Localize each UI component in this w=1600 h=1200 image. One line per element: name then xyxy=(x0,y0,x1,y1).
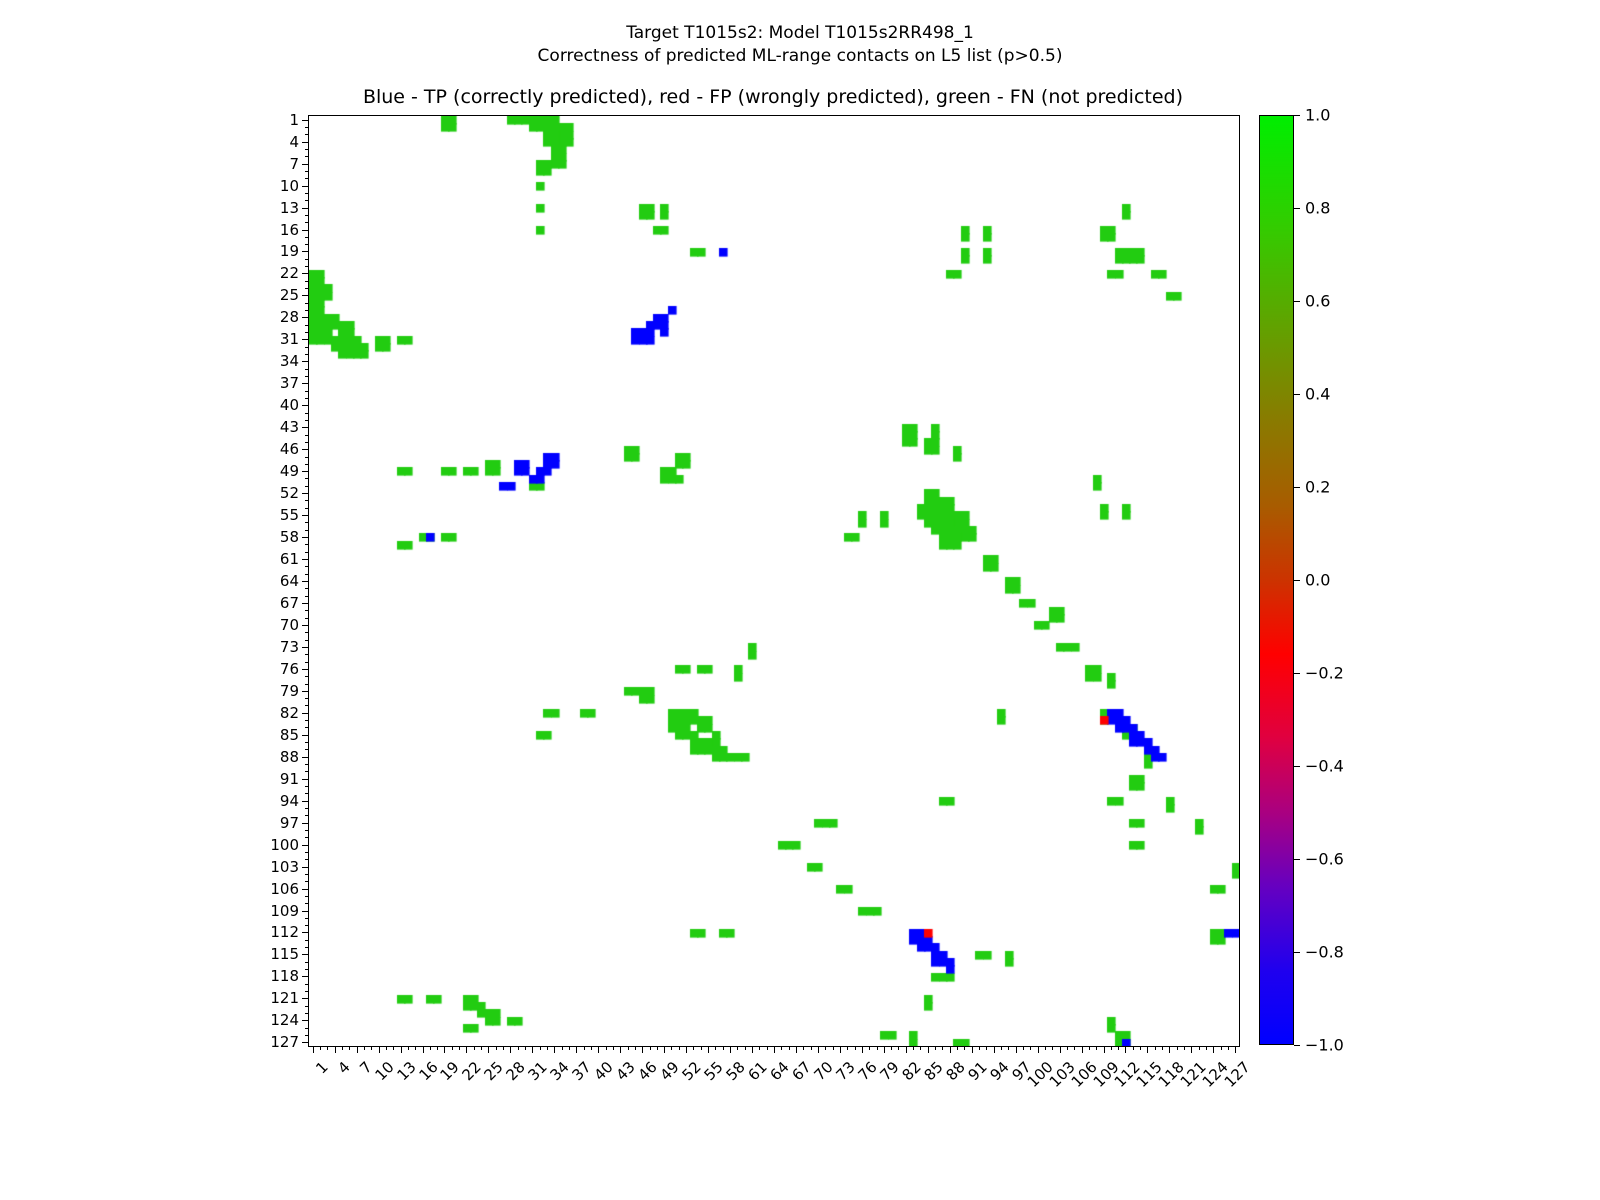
x-tick-minor xyxy=(1162,1046,1163,1050)
y-tick-minor xyxy=(305,566,309,567)
y-tick-minor xyxy=(305,742,309,743)
x-tick-major xyxy=(1235,1046,1236,1053)
y-tick-minor xyxy=(305,413,309,414)
y-tick-label: 73 xyxy=(280,638,299,656)
y-tick-minor xyxy=(305,962,309,963)
y-tick-minor xyxy=(305,325,309,326)
x-tick-minor xyxy=(891,1046,892,1050)
x-tick-minor xyxy=(833,1046,834,1050)
y-tick-label: 121 xyxy=(270,989,299,1007)
x-tick-major xyxy=(730,1046,731,1053)
y-tick-label: 97 xyxy=(280,814,299,832)
x-tick-minor xyxy=(898,1046,899,1050)
colorbar-gradient xyxy=(1259,115,1294,1045)
y-tick-major xyxy=(302,581,309,582)
x-tick-major xyxy=(379,1046,380,1053)
y-tick-major xyxy=(302,603,309,604)
x-tick-minor xyxy=(1155,1046,1156,1050)
y-tick-major xyxy=(302,273,309,274)
y-tick-label: 1 xyxy=(289,111,299,129)
y-tick-label: 76 xyxy=(280,660,299,678)
y-tick-minor xyxy=(305,574,309,575)
x-tick-minor xyxy=(1184,1046,1185,1050)
x-tick-major xyxy=(752,1046,753,1053)
x-tick-label: 7 xyxy=(356,1058,375,1077)
y-tick-minor xyxy=(305,134,309,135)
y-tick-minor xyxy=(305,522,309,523)
x-tick-minor xyxy=(803,1046,804,1050)
x-tick-minor xyxy=(715,1046,716,1050)
y-tick-major xyxy=(302,867,309,868)
x-tick-minor xyxy=(701,1046,702,1050)
colorbar-tick-label: 0.6 xyxy=(1305,292,1330,311)
y-tick-minor xyxy=(305,149,309,150)
y-tick-minor xyxy=(305,376,309,377)
x-tick-major xyxy=(1147,1046,1148,1053)
x-tick-minor xyxy=(671,1046,672,1050)
y-tick-minor xyxy=(305,588,309,589)
y-tick-minor xyxy=(305,200,309,201)
y-tick-minor xyxy=(305,771,309,772)
y-tick-minor xyxy=(305,391,309,392)
y-tick-label: 61 xyxy=(280,550,299,568)
y-tick-label: 58 xyxy=(280,528,299,546)
y-tick-label: 82 xyxy=(280,704,299,722)
x-tick-minor xyxy=(496,1046,497,1050)
y-tick-label: 70 xyxy=(280,616,299,634)
y-tick-label: 124 xyxy=(270,1011,299,1029)
colorbar: 1.00.80.60.40.20.0−0.2−0.4−0.6−0.8−1.0 xyxy=(1259,115,1294,1045)
x-tick-major xyxy=(664,1046,665,1053)
y-tick-minor xyxy=(305,127,309,128)
y-tick-major xyxy=(302,889,309,890)
y-tick-minor xyxy=(305,347,309,348)
y-tick-minor xyxy=(305,237,309,238)
y-tick-label: 94 xyxy=(280,792,299,810)
x-tick-major xyxy=(401,1046,402,1053)
y-tick-minor xyxy=(305,369,309,370)
x-tick-major xyxy=(313,1046,314,1053)
y-tick-minor xyxy=(305,222,309,223)
x-tick-major xyxy=(444,1046,445,1053)
x-tick-minor xyxy=(320,1046,321,1050)
y-tick-minor xyxy=(305,903,309,904)
x-tick-label: 1 xyxy=(312,1058,331,1077)
x-tick-minor xyxy=(1001,1046,1002,1050)
y-tick-label: 49 xyxy=(280,462,299,480)
y-tick-minor xyxy=(305,720,309,721)
x-tick-minor xyxy=(474,1046,475,1050)
y-tick-label: 37 xyxy=(280,374,299,392)
y-tick-minor xyxy=(305,171,309,172)
x-tick-major xyxy=(1038,1046,1039,1053)
x-tick-minor xyxy=(1228,1046,1229,1050)
y-tick-minor xyxy=(305,764,309,765)
x-tick-minor xyxy=(1074,1046,1075,1050)
x-tick-minor xyxy=(1206,1046,1207,1050)
y-tick-major xyxy=(302,405,309,406)
y-tick-minor xyxy=(305,662,309,663)
x-tick-minor xyxy=(650,1046,651,1050)
x-tick-minor xyxy=(1096,1046,1097,1050)
y-tick-major xyxy=(302,120,309,121)
x-tick-major xyxy=(510,1046,511,1053)
x-tick-major xyxy=(642,1046,643,1053)
y-tick-major xyxy=(302,976,309,977)
x-tick-minor xyxy=(635,1046,636,1050)
colorbar-tick-label: 0.0 xyxy=(1305,571,1330,590)
x-tick-minor xyxy=(1030,1046,1031,1050)
y-tick-minor xyxy=(305,881,309,882)
x-tick-major xyxy=(488,1046,489,1053)
y-tick-major xyxy=(302,625,309,626)
y-tick-label: 115 xyxy=(270,945,299,963)
x-tick-minor xyxy=(935,1046,936,1050)
y-tick-label: 10 xyxy=(280,177,299,195)
y-tick-major xyxy=(302,361,309,362)
x-tick-minor xyxy=(591,1046,592,1050)
x-tick-label: 4 xyxy=(334,1058,353,1077)
y-tick-label: 31 xyxy=(280,330,299,348)
x-tick-minor xyxy=(1023,1046,1024,1050)
y-tick-minor xyxy=(305,786,309,787)
x-tick-minor xyxy=(459,1046,460,1050)
colorbar-tick xyxy=(1294,952,1300,953)
x-tick-minor xyxy=(1221,1046,1222,1050)
colorbar-tick xyxy=(1294,487,1300,488)
colorbar-tick xyxy=(1294,208,1300,209)
y-tick-minor xyxy=(305,156,309,157)
y-tick-minor xyxy=(305,918,309,919)
x-tick-minor xyxy=(393,1046,394,1050)
y-tick-label: 112 xyxy=(270,923,299,941)
y-tick-minor xyxy=(305,442,309,443)
x-tick-major xyxy=(532,1046,533,1053)
y-tick-major xyxy=(302,559,309,560)
x-tick-major xyxy=(972,1046,973,1053)
x-tick-major xyxy=(1082,1046,1083,1053)
x-tick-major xyxy=(796,1046,797,1053)
y-tick-major xyxy=(302,1042,309,1043)
y-tick-minor xyxy=(305,896,309,897)
y-tick-major xyxy=(302,427,309,428)
y-tick-minor xyxy=(305,457,309,458)
x-tick-major xyxy=(818,1046,819,1053)
colorbar-tick-label: 0.4 xyxy=(1305,385,1330,404)
y-tick-label: 100 xyxy=(270,836,299,854)
y-tick-major xyxy=(302,954,309,955)
y-tick-minor xyxy=(305,676,309,677)
axes-title: Blue - TP (correctly predicted), red - F… xyxy=(308,86,1238,108)
y-tick-minor xyxy=(305,464,309,465)
y-tick-major xyxy=(302,142,309,143)
y-tick-major xyxy=(302,735,309,736)
y-tick-label: 91 xyxy=(280,770,299,788)
y-tick-minor xyxy=(305,852,309,853)
y-tick-label: 28 xyxy=(280,308,299,326)
x-tick-major xyxy=(862,1046,863,1053)
x-tick-minor xyxy=(964,1046,965,1050)
y-tick-minor xyxy=(305,984,309,985)
y-tick-label: 103 xyxy=(270,858,299,876)
y-tick-minor xyxy=(305,354,309,355)
y-tick-major xyxy=(302,383,309,384)
x-tick-major xyxy=(774,1046,775,1053)
x-tick-minor xyxy=(693,1046,694,1050)
y-tick-minor xyxy=(305,310,309,311)
y-tick-minor xyxy=(305,259,309,260)
y-tick-minor xyxy=(305,698,309,699)
x-tick-minor xyxy=(452,1046,453,1050)
y-tick-major xyxy=(302,164,309,165)
x-tick-minor xyxy=(913,1046,914,1050)
x-tick-minor xyxy=(408,1046,409,1050)
suptitle-line-2: Correctness of predicted ML-range contac… xyxy=(0,45,1600,68)
x-tick-minor xyxy=(349,1046,350,1050)
x-tick-minor xyxy=(1067,1046,1068,1050)
y-tick-minor xyxy=(305,478,309,479)
y-tick-major xyxy=(302,1020,309,1021)
x-tick-major xyxy=(335,1046,336,1053)
y-tick-minor xyxy=(305,793,309,794)
colorbar-tick xyxy=(1294,673,1300,674)
x-tick-minor xyxy=(481,1046,482,1050)
x-tick-minor xyxy=(1008,1046,1009,1050)
y-tick-label: 88 xyxy=(280,748,299,766)
y-tick-major xyxy=(302,317,309,318)
colorbar-tick-label: 0.8 xyxy=(1305,199,1330,218)
x-tick-minor xyxy=(759,1046,760,1050)
y-tick-minor xyxy=(305,640,309,641)
x-tick-minor xyxy=(1052,1046,1053,1050)
x-tick-major xyxy=(708,1046,709,1053)
y-tick-minor xyxy=(305,596,309,597)
x-tick-major xyxy=(928,1046,929,1053)
y-tick-label: 46 xyxy=(280,440,299,458)
y-tick-label: 106 xyxy=(270,880,299,898)
x-tick-minor xyxy=(847,1046,848,1050)
y-tick-minor xyxy=(305,530,309,531)
x-tick-major xyxy=(994,1046,995,1053)
y-tick-label: 25 xyxy=(280,286,299,304)
y-tick-major xyxy=(302,823,309,824)
y-tick-label: 16 xyxy=(280,221,299,239)
y-tick-minor xyxy=(305,1035,309,1036)
colorbar-tick xyxy=(1294,301,1300,302)
y-tick-major xyxy=(302,779,309,780)
y-tick-minor xyxy=(305,815,309,816)
x-tick-minor xyxy=(942,1046,943,1050)
y-tick-minor xyxy=(305,486,309,487)
y-tick-minor xyxy=(305,193,309,194)
y-tick-minor xyxy=(305,684,309,685)
y-tick-minor xyxy=(305,654,309,655)
y-tick-label: 109 xyxy=(270,902,299,920)
y-tick-minor xyxy=(305,266,309,267)
x-tick-minor xyxy=(957,1046,958,1050)
x-tick-minor xyxy=(415,1046,416,1050)
x-tick-minor xyxy=(327,1046,328,1050)
x-tick-minor xyxy=(877,1046,878,1050)
y-tick-label: 34 xyxy=(280,352,299,370)
y-tick-major xyxy=(302,669,309,670)
y-tick-label: 40 xyxy=(280,396,299,414)
y-tick-major xyxy=(302,911,309,912)
y-tick-major xyxy=(302,998,309,999)
y-tick-label: 85 xyxy=(280,726,299,744)
x-tick-major xyxy=(1104,1046,1105,1053)
y-tick-major xyxy=(302,515,309,516)
y-tick-major xyxy=(302,691,309,692)
y-tick-major xyxy=(302,493,309,494)
x-tick-minor xyxy=(1199,1046,1200,1050)
contact-map-plot: 1471013161922252831343740434649525558616… xyxy=(308,115,1240,1047)
y-tick-minor xyxy=(305,808,309,809)
x-tick-minor xyxy=(606,1046,607,1050)
x-tick-minor xyxy=(371,1046,372,1050)
y-tick-minor xyxy=(305,1006,309,1007)
x-tick-minor xyxy=(789,1046,790,1050)
y-tick-minor xyxy=(305,874,309,875)
y-tick-minor xyxy=(305,420,309,421)
y-tick-minor xyxy=(305,435,309,436)
x-tick-minor xyxy=(781,1046,782,1050)
y-tick-minor xyxy=(305,830,309,831)
x-tick-minor xyxy=(584,1046,585,1050)
y-tick-major xyxy=(302,251,309,252)
y-tick-label: 13 xyxy=(280,199,299,217)
colorbar-tick xyxy=(1294,580,1300,581)
y-tick-minor xyxy=(305,1028,309,1029)
colorbar-tick-label: −0.8 xyxy=(1305,943,1344,962)
y-tick-major xyxy=(302,449,309,450)
x-tick-minor xyxy=(628,1046,629,1050)
y-tick-label: 22 xyxy=(280,264,299,282)
x-tick-minor xyxy=(503,1046,504,1050)
x-tick-minor xyxy=(540,1046,541,1050)
y-tick-minor xyxy=(305,727,309,728)
y-tick-major xyxy=(302,230,309,231)
y-tick-label: 118 xyxy=(270,967,299,985)
x-tick-minor xyxy=(767,1046,768,1050)
contact-map-heatmap xyxy=(309,116,1239,1046)
x-tick-major xyxy=(620,1046,621,1053)
y-tick-major xyxy=(302,932,309,933)
x-tick-major xyxy=(357,1046,358,1053)
colorbar-tick-label: −0.2 xyxy=(1305,664,1344,683)
y-tick-major xyxy=(302,647,309,648)
y-tick-label: 7 xyxy=(289,155,299,173)
y-tick-major xyxy=(302,471,309,472)
x-tick-minor xyxy=(518,1046,519,1050)
y-tick-minor xyxy=(305,705,309,706)
x-tick-label: 127 xyxy=(1221,1058,1254,1091)
y-tick-major xyxy=(302,713,309,714)
x-tick-major xyxy=(466,1046,467,1053)
y-tick-minor xyxy=(305,215,309,216)
x-tick-minor xyxy=(986,1046,987,1050)
x-tick-minor xyxy=(342,1046,343,1050)
y-tick-minor xyxy=(305,1013,309,1014)
y-tick-label: 67 xyxy=(280,594,299,612)
y-tick-minor xyxy=(305,859,309,860)
colorbar-tick-label: 0.2 xyxy=(1305,478,1330,497)
y-tick-minor xyxy=(305,940,309,941)
x-tick-minor xyxy=(562,1046,563,1050)
y-tick-minor xyxy=(305,244,309,245)
y-tick-minor xyxy=(305,618,309,619)
y-tick-minor xyxy=(305,500,309,501)
x-tick-major xyxy=(1191,1046,1192,1053)
y-tick-minor xyxy=(305,508,309,509)
x-tick-minor xyxy=(811,1046,812,1050)
y-tick-major xyxy=(302,339,309,340)
x-tick-minor xyxy=(547,1046,548,1050)
x-tick-major xyxy=(1016,1046,1017,1053)
y-tick-minor xyxy=(305,332,309,333)
y-tick-minor xyxy=(305,947,309,948)
x-tick-minor xyxy=(430,1046,431,1050)
y-tick-minor xyxy=(305,281,309,282)
x-tick-minor xyxy=(613,1046,614,1050)
colorbar-tick-label: −0.4 xyxy=(1305,757,1344,776)
figure-suptitle: Target T1015s2: Model T1015s2RR498_1 Cor… xyxy=(0,22,1600,68)
x-tick-major xyxy=(840,1046,841,1053)
x-tick-minor xyxy=(745,1046,746,1050)
x-tick-minor xyxy=(920,1046,921,1050)
x-tick-major xyxy=(1213,1046,1214,1053)
x-tick-minor xyxy=(855,1046,856,1050)
y-tick-label: 43 xyxy=(280,418,299,436)
x-tick-minor xyxy=(569,1046,570,1050)
x-tick-minor xyxy=(679,1046,680,1050)
colorbar-tick-label: −0.6 xyxy=(1305,850,1344,869)
y-tick-label: 64 xyxy=(280,572,299,590)
y-tick-major xyxy=(302,537,309,538)
x-tick-major xyxy=(1169,1046,1170,1053)
x-tick-minor xyxy=(723,1046,724,1050)
x-tick-minor xyxy=(1089,1046,1090,1050)
x-tick-minor xyxy=(1133,1046,1134,1050)
x-tick-major xyxy=(906,1046,907,1053)
x-tick-minor xyxy=(1111,1046,1112,1050)
y-tick-minor xyxy=(305,303,309,304)
y-tick-minor xyxy=(305,925,309,926)
x-tick-major xyxy=(423,1046,424,1053)
colorbar-tick xyxy=(1294,115,1300,116)
y-tick-minor xyxy=(305,969,309,970)
suptitle-line-1: Target T1015s2: Model T1015s2RR498_1 xyxy=(0,22,1600,45)
colorbar-tick xyxy=(1294,1045,1300,1046)
x-tick-minor xyxy=(1140,1046,1141,1050)
y-tick-minor xyxy=(305,552,309,553)
y-tick-major xyxy=(302,845,309,846)
y-tick-label: 79 xyxy=(280,682,299,700)
x-tick-major xyxy=(554,1046,555,1053)
y-tick-label: 52 xyxy=(280,484,299,502)
x-tick-minor xyxy=(437,1046,438,1050)
y-tick-minor xyxy=(305,837,309,838)
y-tick-minor xyxy=(305,398,309,399)
y-tick-label: 55 xyxy=(280,506,299,524)
x-tick-minor xyxy=(825,1046,826,1050)
x-tick-minor xyxy=(364,1046,365,1050)
y-tick-minor xyxy=(305,610,309,611)
x-tick-major xyxy=(950,1046,951,1053)
y-tick-minor xyxy=(305,991,309,992)
x-tick-minor xyxy=(525,1046,526,1050)
x-tick-major xyxy=(598,1046,599,1053)
